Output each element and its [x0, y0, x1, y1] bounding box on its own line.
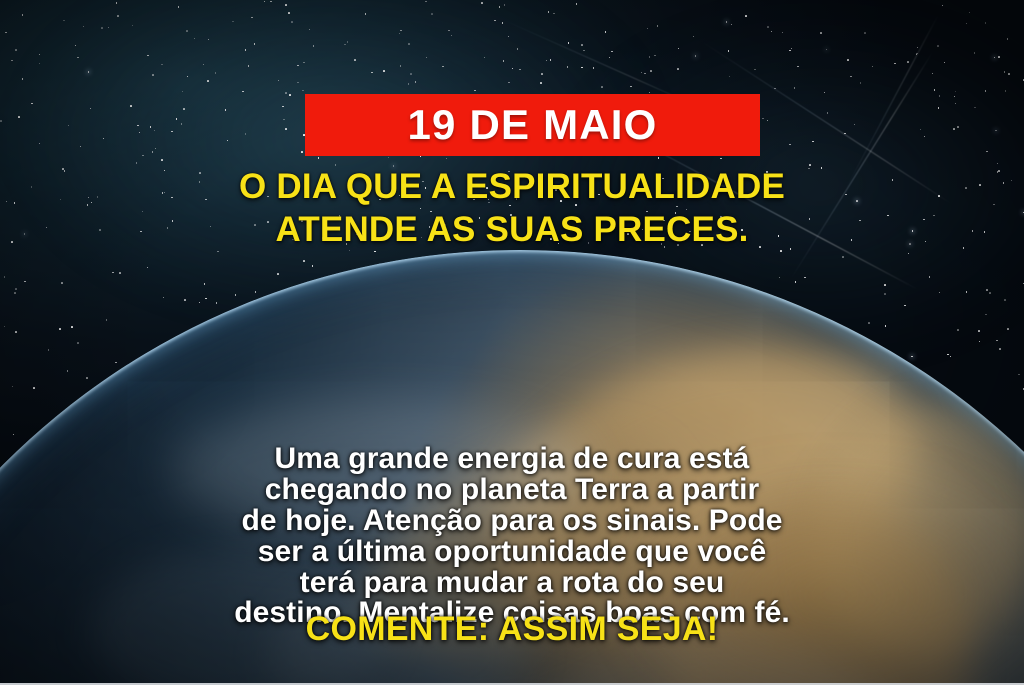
body-line-3: de hoje. Atenção para os sinais. Pode	[0, 506, 1024, 537]
body-line-4: ser a última oportunidade que você	[0, 537, 1024, 568]
poster-canvas: 19 DE MAIO O DIA QUE A ESPIRITUALIDADE A…	[0, 0, 1024, 685]
body-line-2: chegando no planeta Terra a partir	[0, 475, 1024, 506]
body-paragraph: Uma grande energia de cura está chegando…	[0, 444, 1024, 629]
date-banner-text: 19 DE MAIO	[407, 104, 657, 146]
headline: O DIA QUE A ESPIRITUALIDADE ATENDE AS SU…	[0, 166, 1024, 251]
date-banner: 19 DE MAIO	[305, 94, 760, 156]
poster-content: 19 DE MAIO O DIA QUE A ESPIRITUALIDADE A…	[0, 0, 1024, 685]
call-to-action-text: COMENTE: ASSIM SEJA!	[0, 612, 1024, 646]
body-line-5: terá para mudar a rota do seu	[0, 568, 1024, 599]
body-line-1: Uma grande energia de cura está	[0, 444, 1024, 475]
headline-line-2: ATENDE AS SUAS PRECES.	[0, 209, 1024, 252]
headline-line-1: O DIA QUE A ESPIRITUALIDADE	[0, 166, 1024, 209]
